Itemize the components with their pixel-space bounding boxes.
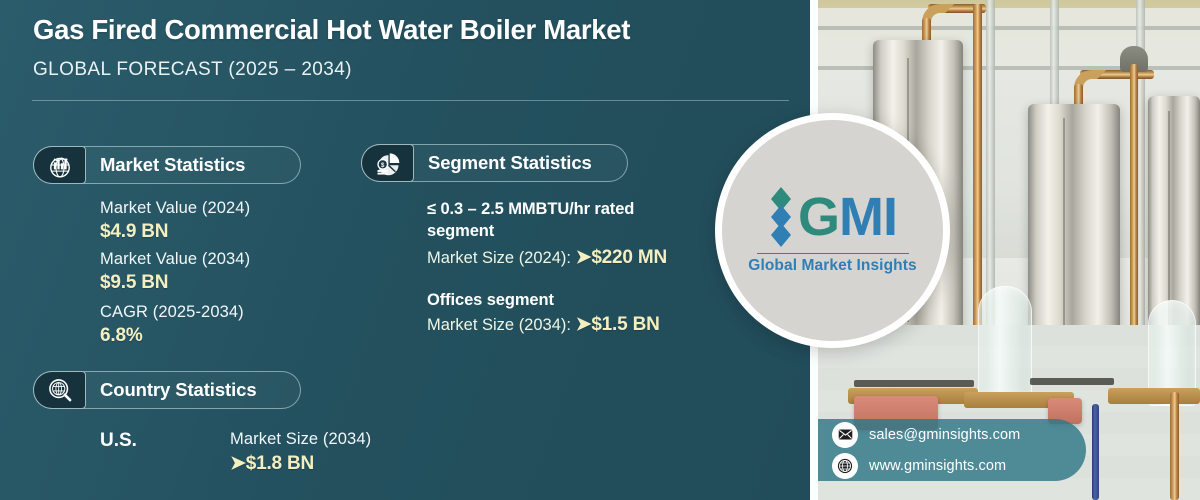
market-value-2034-value: $9.5 BN — [100, 272, 168, 294]
chevron-icon: ➤ — [230, 453, 246, 474]
market-value-2024-label: Market Value (2024) — [100, 199, 250, 218]
gmi-logo-mark: G MI — [768, 186, 897, 248]
photo-dark-bar — [854, 380, 974, 387]
contact-bar: sales@gminsights.com www.gminsights.com — [818, 419, 1086, 481]
header-divider — [32, 100, 789, 101]
envelope-icon — [832, 422, 858, 448]
country-name: U.S. — [100, 430, 137, 452]
segment-2-metric: Market Size (2034): ➤$1.5 BN — [427, 313, 660, 336]
globe-bar-chart-icon — [33, 146, 86, 184]
segment-1-metric-label: Market Size (2024): — [427, 249, 571, 267]
page-title: Gas Fired Commercial Hot Water Boiler Ma… — [33, 14, 773, 46]
photo-boiler-cylinder — [1028, 104, 1120, 340]
page-subtitle: GLOBAL FORECAST (2025 – 2034) — [33, 59, 352, 81]
photo-copper-pipe — [1130, 64, 1138, 334]
photo-dark-bar — [1030, 378, 1114, 385]
svg-text:$: $ — [381, 162, 385, 169]
gmi-diamond-icon — [768, 186, 794, 248]
segment-2-metric-value: $1.5 BN — [591, 314, 659, 335]
country-statistics-header: Country Statistics — [33, 371, 301, 409]
country-statistics-label: Country Statistics — [100, 379, 257, 401]
contact-website-row[interactable]: www.gminsights.com — [832, 453, 1086, 479]
market-statistics-header: Market Statistics — [33, 146, 301, 184]
country-metric-amount: $1.8 BN — [246, 453, 314, 474]
photo-copper-pipe — [1170, 392, 1179, 500]
photo-copper-pipe — [973, 4, 982, 334]
segment-1-metric-value: $220 MN — [591, 247, 667, 268]
cagr-label: CAGR (2025-2034) — [100, 303, 244, 322]
globe-icon — [832, 453, 858, 479]
globe-magnifier-icon — [33, 371, 86, 409]
country-metric-label: Market Size (2034) — [230, 430, 371, 449]
photo-brass-shelf — [1108, 388, 1200, 404]
market-value-2034-label: Market Value (2034) — [100, 250, 250, 269]
gmi-letters-mi: MI — [839, 190, 897, 244]
gmi-logo-badge: G MI Global Market Insights — [715, 113, 950, 348]
photo-blue-pipe — [1092, 404, 1099, 500]
cagr-value: 6.8% — [100, 325, 143, 347]
infographic-canvas: Gas Fired Commercial Hot Water Boiler Ma… — [0, 0, 1200, 500]
segment-statistics-header: $ Segment Statistics — [361, 144, 628, 182]
segment-1-name: ≤ 0.3 – 2.5 MMBTU/hr rated segment — [427, 198, 702, 243]
market-value-2024-value: $4.9 BN — [100, 221, 168, 243]
chevron-icon: ➤ — [576, 247, 592, 268]
info-panel: Gas Fired Commercial Hot Water Boiler Ma… — [0, 0, 812, 500]
gmi-tagline: Global Market Insights — [748, 257, 916, 275]
country-metric-value: ➤$1.8 BN — [230, 452, 314, 475]
contact-email-row[interactable]: sales@gminsights.com — [832, 422, 1086, 448]
contact-email: sales@gminsights.com — [869, 427, 1020, 443]
gmi-logo-rule — [757, 253, 909, 255]
photo-glass-dome — [978, 286, 1032, 406]
segment-statistics-label: Segment Statistics — [428, 152, 592, 174]
pie-chart-money-icon: $ — [361, 144, 414, 182]
contact-website: www.gminsights.com — [869, 458, 1006, 474]
segment-1-metric: Market Size (2024): ➤$220 MN — [427, 246, 667, 269]
segment-2-name: Offices segment — [427, 289, 554, 311]
market-statistics-label: Market Statistics — [100, 154, 245, 176]
photo-frame-bar — [986, 0, 995, 330]
segment-2-metric-label: Market Size (2034): — [427, 316, 571, 334]
gmi-letter-g: G — [798, 190, 839, 244]
chevron-icon: ➤ — [576, 314, 592, 335]
